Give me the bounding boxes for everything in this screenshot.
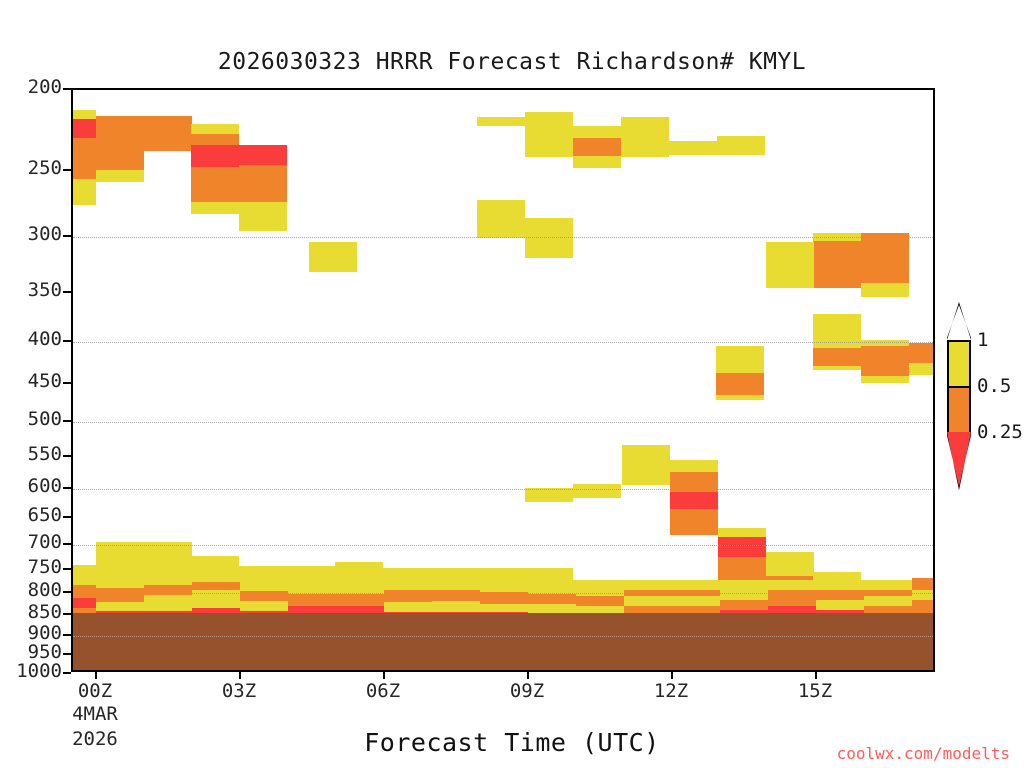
heatmap-cells	[73, 90, 933, 670]
gridline	[73, 422, 933, 424]
heatmap-cell	[718, 557, 766, 581]
heatmap-cell	[239, 566, 287, 580]
x-axis-tick-mark	[95, 672, 97, 679]
gridline	[73, 545, 933, 547]
heatmap-cell	[670, 460, 718, 472]
heatmap-cell	[191, 134, 239, 145]
heatmap-cell	[624, 596, 720, 606]
heatmap-cell	[861, 283, 909, 297]
y-axis-tick-mark	[63, 568, 71, 570]
y-axis: 2002503003504004505005506006507007508008…	[0, 88, 71, 672]
heatmap-cell	[717, 136, 765, 155]
gridline	[73, 237, 933, 239]
heatmap-cell	[720, 590, 768, 600]
heatmap-cell	[573, 126, 621, 138]
y-axis-tick-mark	[63, 340, 71, 342]
y-axis-tick-label: 1000	[16, 660, 62, 682]
heatmap-cell	[528, 580, 576, 594]
y-axis-tick-mark	[63, 613, 71, 615]
gridline	[73, 342, 933, 344]
heatmap-cell	[861, 233, 909, 283]
heatmap-cell	[384, 590, 432, 602]
y-axis-tick-mark	[63, 634, 71, 636]
heatmap-cell	[191, 124, 239, 134]
y-axis-tick-mark	[63, 420, 71, 422]
x-axis-tick-mark	[383, 672, 385, 679]
heatmap-cell	[384, 602, 432, 612]
heatmap-cell	[335, 562, 383, 580]
heatmap-cell	[480, 580, 528, 592]
heatmap-cell	[912, 578, 935, 590]
x-axis-tick-label: 09Z	[510, 680, 544, 702]
colorbar-under-arrow	[947, 432, 971, 490]
heatmap-cell	[144, 116, 192, 151]
colorbar-segment	[947, 386, 971, 432]
heatmap-cell	[73, 598, 96, 608]
y-axis-tick-label: 850	[28, 601, 62, 623]
x-axis-tick-label: 03Z	[222, 680, 256, 702]
colorbar-label: 0.5	[977, 375, 1011, 397]
y-axis-tick-label: 350	[28, 279, 62, 301]
heatmap-cell	[96, 542, 192, 580]
heatmap-cell	[622, 445, 670, 485]
y-axis-tick-label: 400	[28, 328, 62, 350]
heatmap-cell	[528, 594, 576, 604]
heatmap-cell	[813, 241, 861, 288]
colorbar-legend: 10.50.25	[947, 302, 971, 488]
x-axis-tick-label: 00Z	[78, 680, 112, 702]
heatmap-cell	[861, 376, 909, 383]
y-axis-tick-mark	[63, 591, 71, 593]
heatmap-cell	[73, 585, 96, 598]
y-axis-tick-mark	[63, 487, 71, 489]
heatmap-cell	[73, 119, 96, 138]
heatmap-cell	[768, 598, 816, 606]
heatmap-cell	[670, 492, 718, 509]
heatmap-cell	[716, 373, 764, 395]
x-axis-tick-mark	[527, 672, 529, 679]
gridline	[73, 636, 933, 638]
heatmap-cell	[716, 346, 764, 373]
y-axis-tick-mark	[63, 169, 71, 171]
colorbar-label: 0.25	[977, 421, 1023, 443]
heatmap-cell	[718, 528, 766, 537]
heatmap-cell	[813, 348, 861, 366]
heatmap-cell	[813, 366, 861, 370]
heatmap-cell	[191, 202, 239, 214]
heatmap-cell	[909, 363, 935, 375]
heatmap-cell	[239, 202, 287, 231]
heatmap-cell	[144, 595, 192, 611]
y-axis-tick-mark	[63, 88, 71, 90]
heatmap-cell	[861, 346, 909, 376]
x-axis-date-line: 4MAR	[72, 702, 118, 727]
terrain-fill	[73, 613, 933, 672]
heatmap-cell	[73, 565, 96, 580]
heatmap-cell	[864, 596, 912, 606]
y-axis-tick-label: 300	[28, 223, 62, 245]
colorbar-label: 1	[977, 329, 988, 351]
heatmap-cell	[384, 576, 432, 590]
heatmap-cell	[912, 600, 935, 614]
heatmap-cell	[309, 242, 357, 272]
y-axis-tick-mark	[63, 516, 71, 518]
credit-text: coolwx.com/modelts	[837, 744, 1010, 763]
gridline	[73, 593, 933, 595]
heatmap-cell	[720, 600, 768, 610]
heatmap-cell	[670, 509, 718, 535]
heatmap-cell	[477, 117, 525, 126]
heatmap-cell	[336, 594, 384, 606]
colorbar-divider	[947, 386, 971, 388]
heatmap-cell	[240, 601, 288, 611]
x-axis-tick-label: 12Z	[654, 680, 688, 702]
heatmap-cell	[239, 145, 287, 165]
heatmap-cell	[480, 604, 528, 612]
y-axis-tick-label: 450	[28, 370, 62, 392]
heatmap-cell	[432, 576, 480, 590]
heatmap-cell	[96, 588, 144, 602]
y-axis-tick-label: 700	[28, 531, 62, 553]
y-axis-tick-label: 750	[28, 556, 62, 578]
y-axis-tick-label: 500	[28, 408, 62, 430]
heatmap-cell	[73, 138, 96, 179]
heatmap-cell	[239, 165, 287, 202]
y-axis-tick-mark	[63, 235, 71, 237]
heatmap-cell	[191, 145, 239, 167]
heatmap-cell	[432, 601, 480, 612]
chart-page: 2026030323 HRRR Forecast Richardson# KMY…	[0, 0, 1024, 768]
y-axis-tick-mark	[63, 653, 71, 655]
y-axis-tick-label: 600	[28, 475, 62, 497]
heatmap-cell	[573, 156, 621, 168]
heatmap-cell	[477, 568, 573, 580]
heatmap-cell	[96, 116, 144, 170]
y-axis-tick-label: 800	[28, 579, 62, 601]
y-axis-tick-mark	[63, 455, 71, 457]
heatmap-cell	[240, 582, 288, 591]
heatmap-cell	[766, 242, 814, 282]
heatmap-cell	[573, 484, 621, 498]
heatmap-cell	[912, 590, 935, 600]
heatmap-cell	[669, 141, 717, 155]
y-axis-tick-label: 550	[28, 443, 62, 465]
x-axis-tick-label: 15Z	[798, 680, 832, 702]
heatmap-cell	[621, 117, 669, 157]
heatmap-cell	[288, 594, 336, 606]
colorbar-divider	[947, 340, 971, 342]
heatmap-cell	[73, 110, 96, 119]
x-axis-tick-label: 06Z	[366, 680, 400, 702]
heatmap-cell	[96, 602, 144, 611]
heatmap-cell	[766, 552, 814, 576]
gridline	[73, 489, 933, 491]
heatmap-cell	[287, 566, 335, 580]
plot-area	[71, 88, 935, 672]
y-axis-tick-mark	[63, 672, 71, 674]
page-title: 2026030323 HRRR Forecast Richardson# KMY…	[0, 49, 1024, 75]
heatmap-cell	[716, 395, 764, 400]
y-axis-tick-label: 250	[28, 157, 62, 179]
heatmap-cell	[432, 590, 480, 601]
heatmap-cell	[96, 170, 144, 182]
heatmap-cell	[191, 167, 239, 202]
heatmap-cell	[477, 200, 525, 238]
y-axis-tick-label: 200	[28, 76, 62, 98]
heatmap-cell	[718, 537, 766, 557]
heatmap-cell	[192, 582, 240, 590]
colorbar-segment	[947, 340, 971, 386]
heatmap-cell	[909, 343, 935, 363]
heatmap-cell	[576, 596, 624, 606]
heatmap-cell	[816, 600, 864, 610]
x-axis-tick-mark	[239, 672, 241, 679]
heatmap-cell	[73, 179, 96, 205]
y-axis-tick-mark	[63, 291, 71, 293]
x-axis-tick-mark	[815, 672, 817, 679]
y-axis-tick-mark	[63, 382, 71, 384]
x-axis-tick-mark	[671, 672, 673, 679]
colorbar-over-arrow	[947, 302, 971, 340]
heatmap-cell	[525, 112, 573, 157]
y-axis-tick-mark	[63, 543, 71, 545]
y-axis-tick-label: 650	[28, 504, 62, 526]
heatmap-cell	[573, 138, 621, 156]
heatmap-cell	[766, 282, 814, 288]
heatmap-cell	[191, 556, 239, 580]
